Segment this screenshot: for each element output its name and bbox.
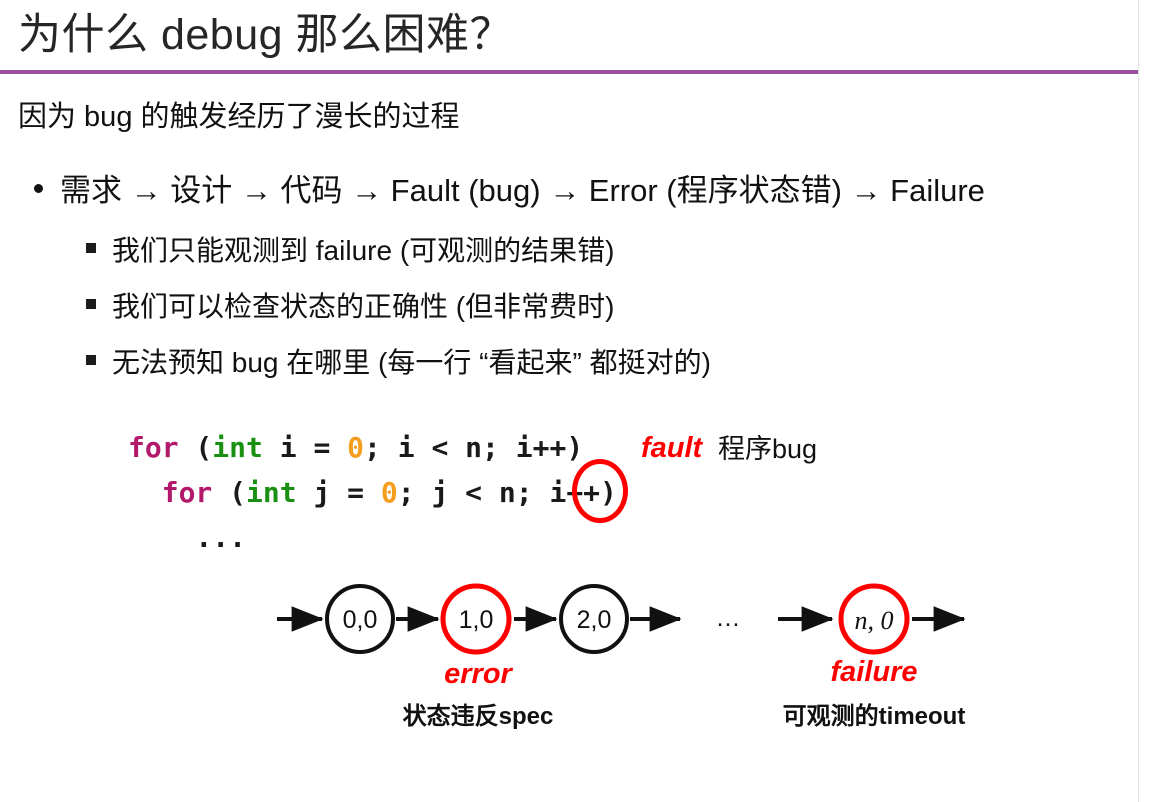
bullet-square-icon xyxy=(86,299,96,309)
page-right-border xyxy=(1138,0,1139,802)
sub-bullet-item-check-state: 我们可以检查状态的正确性 (但非常费时) xyxy=(86,286,614,328)
sub-bullet-item-observe-failure: 我们只能观测到 failure (可观测的结果错) xyxy=(86,230,614,272)
caption-failure-label: failure xyxy=(790,655,958,689)
caption-error-label: error xyxy=(398,657,558,691)
state-transition-diagram: 0,0 1,0 2,0 … xyxy=(260,568,1000,668)
code-type-int: int xyxy=(212,431,263,464)
code-punct: ( xyxy=(179,431,213,464)
code-type-int: int xyxy=(246,476,297,509)
bullet-square-icon xyxy=(86,243,96,253)
diagram-node-n-0: n, 0 xyxy=(841,586,907,652)
bug-highlight-circle xyxy=(572,459,628,523)
bullet-square-icon xyxy=(86,355,96,365)
slide-title-block: 为什么 debug 那么困难？ xyxy=(0,0,1138,74)
diagram-node-1-0: 1,0 xyxy=(443,586,509,652)
slide-canvas: 为什么 debug 那么困难？ 因为 bug 的触发经历了漫长的过程 需求 → … xyxy=(0,0,1154,802)
code-keyword-for: for xyxy=(128,431,179,464)
diagram-ellipsis: … xyxy=(716,604,741,632)
fault-annotation-label-cn: 程序bug xyxy=(718,431,817,467)
bullet-dot-icon xyxy=(34,184,43,193)
code-keyword-for: for xyxy=(162,476,213,509)
code-rest: ; i < n; i++) xyxy=(364,431,583,464)
lead-paragraph: 因为 bug 的触发经历了漫长的过程 xyxy=(18,96,460,138)
sub-bullet-label: 无法预知 bug 在哪里 (每一行 “看起来” 都挺对的) xyxy=(112,342,711,384)
caption-failure-description: 可观测的timeout xyxy=(714,701,1034,733)
code-var: i = xyxy=(263,431,347,464)
diagram-node-label: 1,0 xyxy=(459,606,494,634)
code-punct: ( xyxy=(212,476,246,509)
code-number: 0 xyxy=(381,476,398,509)
code-number: 0 xyxy=(347,431,364,464)
title-divider xyxy=(0,70,1138,74)
code-indent xyxy=(128,476,162,509)
diagram-node-label: 2,0 xyxy=(577,606,612,634)
sub-bullet-item-unknown-bug: 无法预知 bug 在哪里 (每一行 “看起来” 都挺对的) xyxy=(86,342,711,384)
diagram-node-label: 0,0 xyxy=(343,606,378,634)
diagram-node-2-0: 2,0 xyxy=(561,586,627,652)
code-line-3: ... xyxy=(128,521,246,554)
code-line-2: for (int j = 0; j < n; i++) xyxy=(128,476,617,509)
code-var: j = xyxy=(297,476,381,509)
bullet-label: 需求 → 设计 → 代码 → Fault (bug) → Error (程序状态… xyxy=(60,168,985,214)
sub-bullet-label: 我们可以检查状态的正确性 (但非常费时) xyxy=(112,286,614,328)
caption-error-description: 状态违反spec xyxy=(308,701,648,733)
code-block: for (int i = 0; i < n; i++) for (int j =… xyxy=(128,425,617,560)
bullet-item-chain: 需求 → 设计 → 代码 → Fault (bug) → Error (程序状态… xyxy=(34,168,985,214)
page-title: 为什么 debug 那么困难？ xyxy=(18,4,513,66)
sub-bullet-label: 我们只能观测到 failure (可观测的结果错) xyxy=(112,230,614,272)
diagram-node-label: n, 0 xyxy=(855,606,894,635)
diagram-node-0-0: 0,0 xyxy=(327,586,393,652)
code-line-1: for (int i = 0; i < n; i++) xyxy=(128,431,583,464)
fault-annotation-label: fault xyxy=(641,430,702,466)
